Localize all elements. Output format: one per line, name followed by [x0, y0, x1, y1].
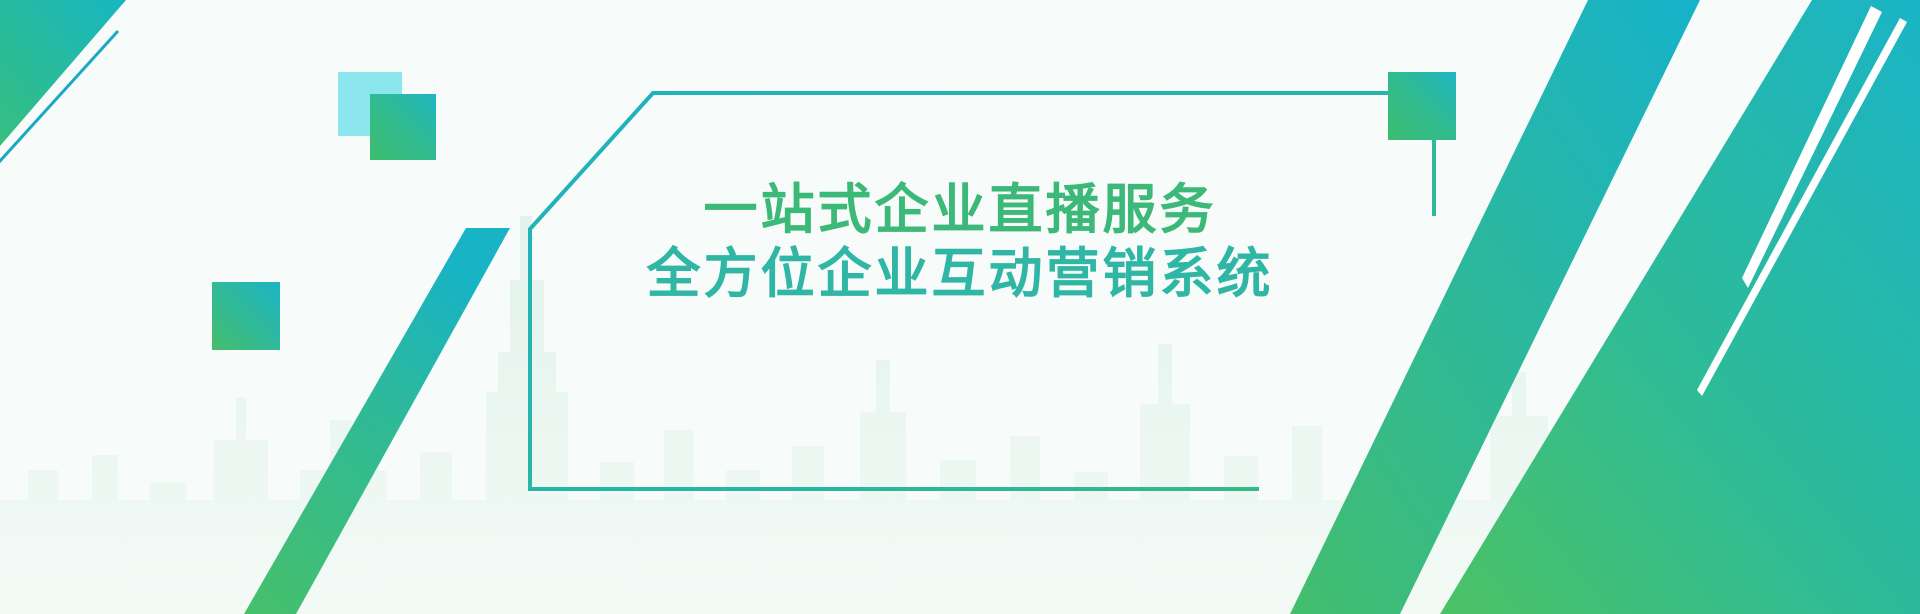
cyan-square-top-left: [338, 72, 402, 136]
right-white-streak-1: [1742, 6, 1882, 288]
green-square-top-right: [1388, 72, 1456, 140]
green-square-mid-left: [212, 282, 280, 350]
left-thin-diagonal-line: [0, 31, 118, 172]
right-diagonal-stripe: [1290, 0, 1700, 614]
banner-background-art: [0, 0, 1920, 614]
right-white-streak-2: [1697, 18, 1907, 396]
notched-frame-outline: [530, 93, 1434, 489]
left-gradient-mass: [0, 0, 122, 142]
promo-banner: 一站式企业直播服务 全方位企业互动营销系统: [0, 0, 1920, 614]
city-skyline-silhouette: [0, 216, 1920, 614]
green-square-top-left: [370, 94, 436, 160]
headline-line-2: 全方位企业互动营销系统: [0, 240, 1920, 309]
right-gradient-mass: [1440, 0, 1920, 614]
center-diagonal-bar: [244, 228, 510, 614]
left-gradient-mass-2: [0, 0, 126, 146]
left-corner-wedge: [0, 0, 122, 142]
headline-line-1: 一站式企业直播服务: [0, 176, 1920, 245]
